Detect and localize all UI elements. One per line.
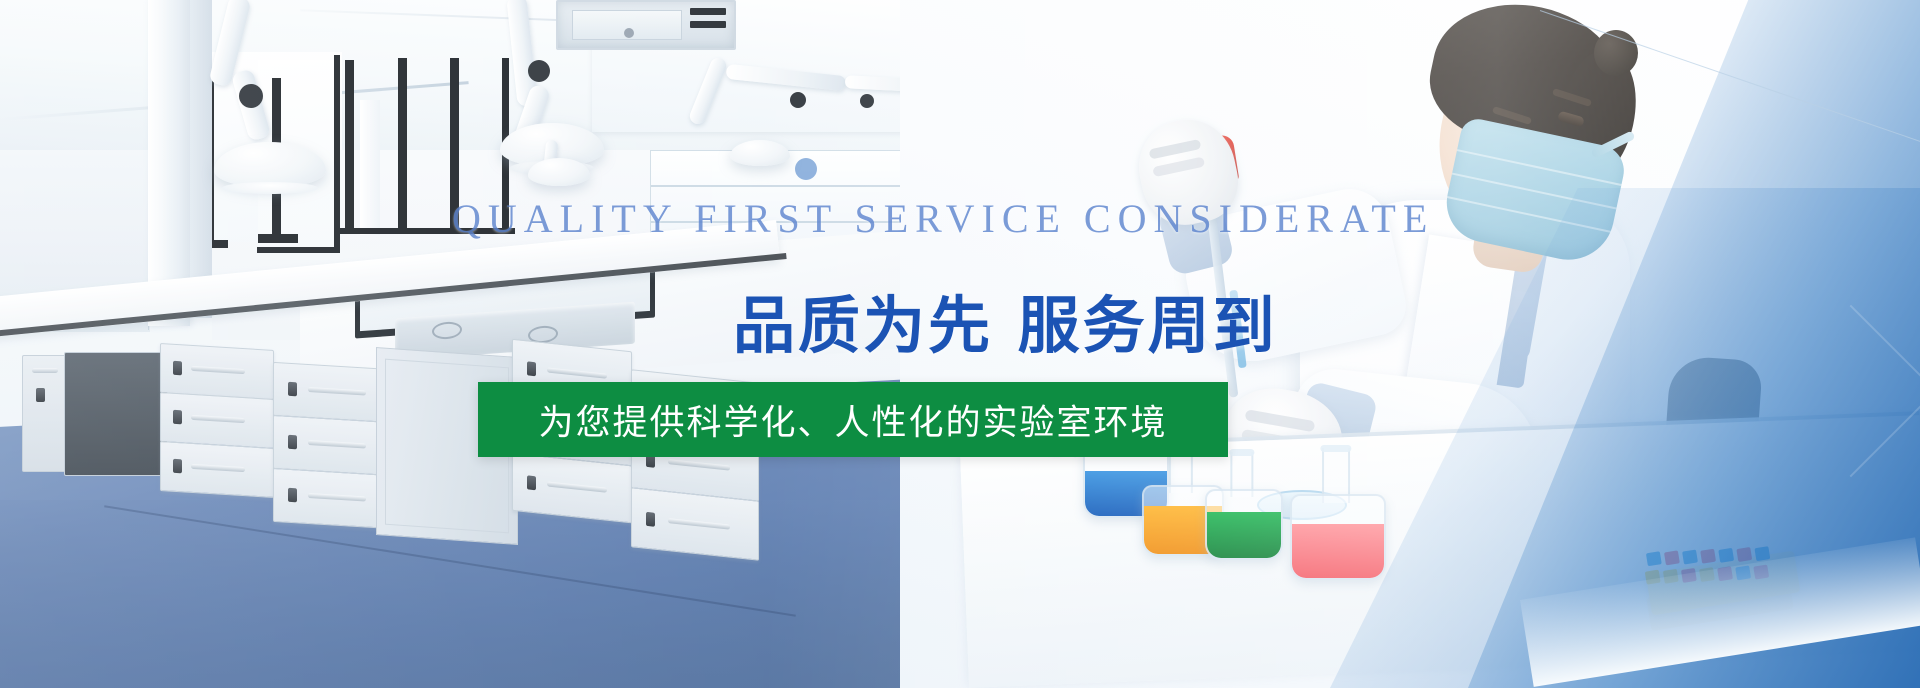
chinese-headline: 品质为先 服务周到 (733, 293, 1278, 358)
banner-copy-layer: QUALITY FIRST SERVICE CONSIDERATE 品质为先 服… (0, 0, 1920, 688)
english-tagline: QUALITY FIRST SERVICE CONSIDERATE (452, 199, 1434, 239)
hero-banner: QUALITY FIRST SERVICE CONSIDERATE 品质为先 服… (0, 0, 1920, 688)
green-subtitle-text: 为您提供科学化、人性化的实验室环境 (478, 394, 1228, 445)
green-subtitle-band: 为您提供科学化、人性化的实验室环境 (478, 382, 1228, 457)
